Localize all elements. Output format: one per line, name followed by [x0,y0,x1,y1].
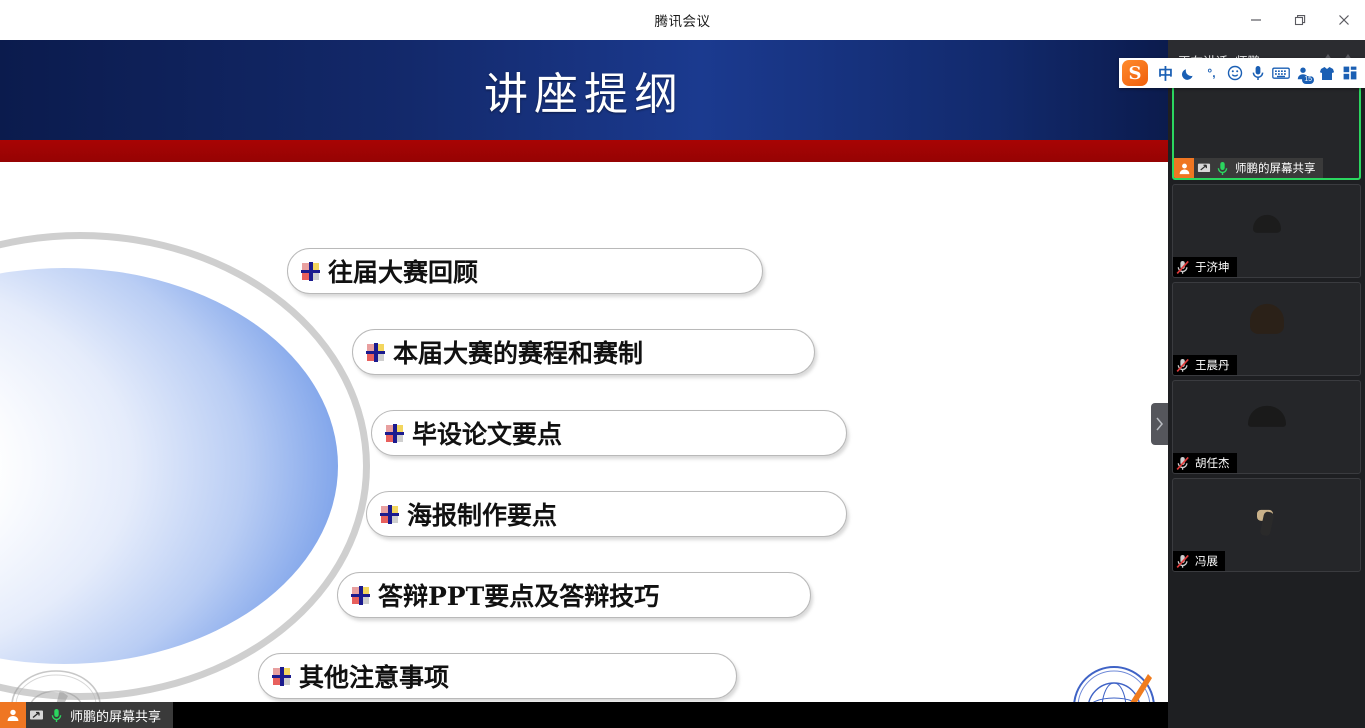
slide-bullet-text: 毕设论文要点 [412,415,562,451]
user-center-icon[interactable]: 15 [1292,58,1315,88]
window-titlebar: 腾讯会议 [0,0,1365,40]
participant-avatar-icon [0,702,26,728]
chinese-english-toggle-icon[interactable]: 中 [1154,58,1177,88]
bullet-marker-icon [273,668,290,685]
sogou-logo-icon[interactable]: S [1122,60,1148,86]
participant-name: 王晨丹 [1195,357,1230,373]
tencent-meeting-window: 腾讯会议 讲座提纲 [0,0,1365,728]
night-mode-icon[interactable] [1177,58,1200,88]
participant-tile[interactable]: 于济坤 [1172,184,1361,278]
slide-bullet-pill: 毕设论文要点 [371,410,847,456]
screen-share-indicator[interactable]: 师鹏的屏幕共享 [0,702,173,728]
participant-name-bar: 胡任杰 [1173,453,1237,473]
participant-name: 冯展 [1195,553,1218,569]
panel-collapse-handle[interactable] [1151,403,1168,445]
emoji-picker-icon[interactable] [1223,58,1246,88]
user-center-badge: 15 [1302,76,1314,84]
microphone-muted-icon [1173,257,1192,277]
bullet-marker-icon [302,263,319,280]
slide-bullet-text: 本届大赛的赛程和赛制 [393,334,643,370]
participant-tile[interactable]: 胡任杰 [1172,380,1361,474]
share-taskbar: 师鹏的屏幕共享 [0,702,1168,728]
participant-avatar-icon [1174,158,1194,178]
punctuation-mode-icon[interactable]: °, [1200,58,1223,88]
slide-bullet-text: 答辩PPT要点及答辩技巧 [378,577,659,613]
microphone-muted-icon [1173,355,1192,375]
participant-name-bar: 于济坤 [1173,257,1237,277]
presentation-slide: 讲座提纲 往届大赛回顾本届大赛的赛程和赛制毕设论文要点海报制作要点答辩PPT要点… [0,40,1168,702]
microphone-muted-icon [1173,453,1192,473]
participant-tile[interactable]: 师鹏的屏幕共享 [1172,84,1361,180]
bullet-marker-icon [381,506,398,523]
participant-name-bar: 师鹏的屏幕共享 [1174,158,1323,178]
screen-share-label: 师鹏的屏幕共享 [70,706,161,725]
close-button[interactable] [1329,0,1359,40]
slide-title: 讲座提纲 [484,58,684,122]
bullet-marker-icon [352,587,369,604]
slide-bullet-text: 其他注意事项 [299,658,449,694]
restore-button[interactable] [1285,0,1315,40]
beihang-university-logo: 1952 BEIHANG UNIVERSITY [8,668,104,702]
bullet-marker-icon [367,344,384,361]
slide-bullet-pill: 其他注意事项 [258,653,737,699]
participant-name: 师鹏的屏幕共享 [1235,160,1316,176]
sogou-ime-toolbar[interactable]: S 中 °, [1119,58,1365,88]
participant-tile-list: 师鹏的屏幕共享于济坤王晨丹胡任杰冯展 [1168,84,1365,572]
school-of-astronautics-logo: School of Astronautics [1060,664,1168,702]
skin-center-icon[interactable] [1315,58,1338,88]
slide-bullet-pill: 往届大赛回顾 [287,248,763,294]
microphone-icon [46,702,66,728]
slide-header-band: 讲座提纲 [0,40,1168,140]
participant-tile[interactable]: 冯展 [1172,478,1361,572]
window-title: 腾讯会议 [655,10,711,30]
participant-name-bar: 王晨丹 [1173,355,1237,375]
screen-share-icon [26,702,46,728]
screen-share-icon [1194,158,1213,178]
soft-keyboard-icon[interactable] [1269,58,1292,88]
participant-name: 胡任杰 [1195,455,1230,471]
avatar [1240,99,1294,153]
microphone-muted-icon [1173,551,1192,571]
avatar [1240,496,1294,550]
microphone-icon [1213,158,1232,178]
participant-name: 于济坤 [1195,259,1230,275]
slide-red-divider [0,140,1168,162]
window-controls [1241,0,1365,40]
voice-input-icon[interactable] [1246,58,1269,88]
slide-bullet-pill: 本届大赛的赛程和赛制 [352,329,815,375]
participant-tile[interactable]: 王晨丹 [1172,282,1361,376]
avatar [1240,202,1294,256]
participant-name-bar: 冯展 [1173,551,1225,571]
slide-bullet-pill: 海报制作要点 [366,491,847,537]
slide-bullet-text: 海报制作要点 [407,496,557,532]
minimize-button[interactable] [1241,0,1271,40]
avatar [1240,300,1294,354]
shared-screen-stage[interactable]: 讲座提纲 往届大赛回顾本届大赛的赛程和赛制毕设论文要点海报制作要点答辩PPT要点… [0,40,1168,728]
toolbox-grid-icon[interactable] [1338,58,1361,88]
avatar [1240,398,1294,452]
slide-bullet-text: 往届大赛回顾 [328,253,478,289]
slide-bullet-pill: 答辩PPT要点及答辩技巧 [337,572,811,618]
participants-panel: 正在讲话: 师鹏; 师鹏的屏幕共享于济坤王晨丹胡任杰冯展 [1168,40,1365,728]
bullet-marker-icon [386,425,403,442]
